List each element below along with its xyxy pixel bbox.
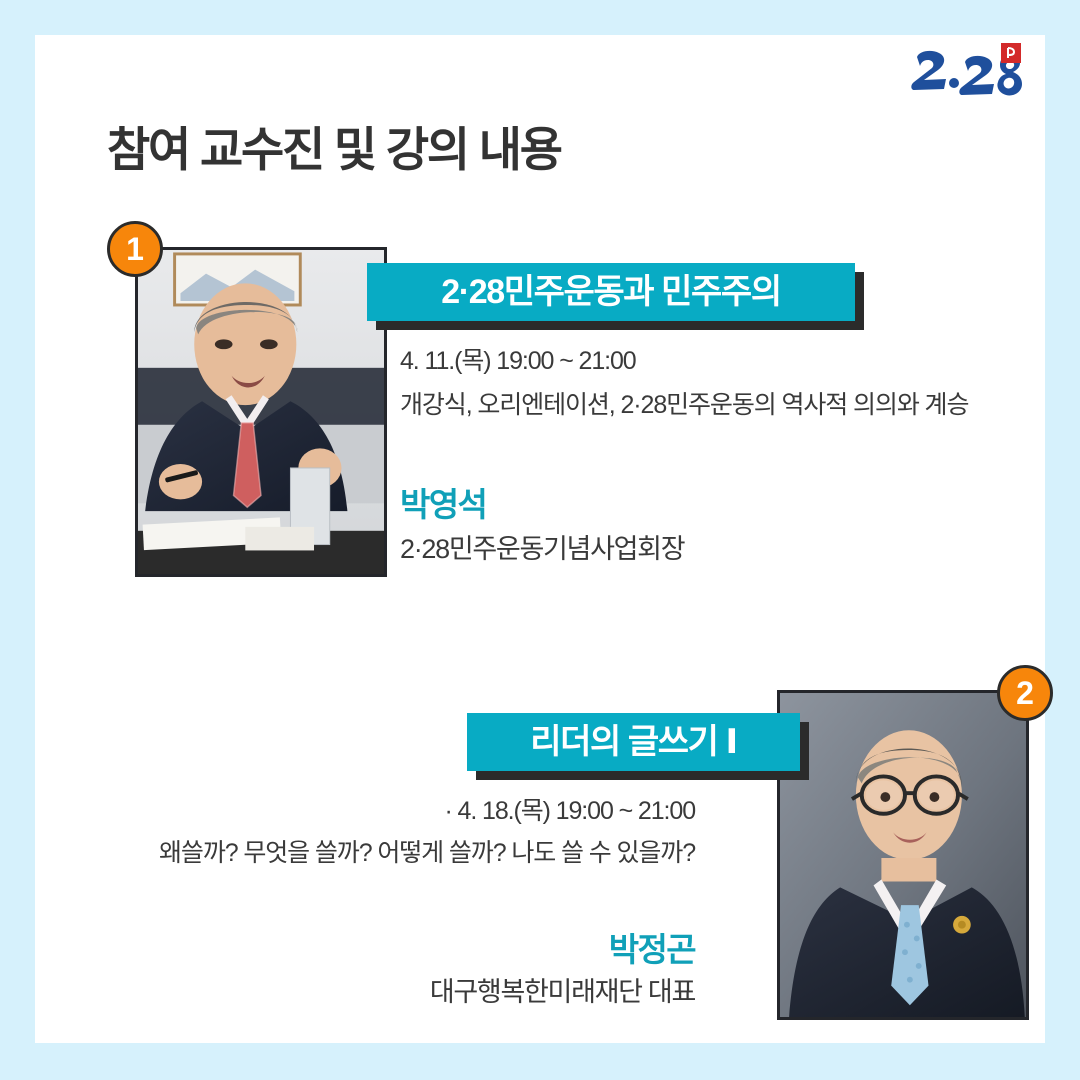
speaker-name-2: 박정곤 <box>609 923 695 971</box>
2-28-logo <box>905 43 1023 105</box>
speaker-photo-2 <box>777 690 1029 1020</box>
speaker-name-1: 박영석 <box>400 478 486 526</box>
page-title: 참여 교수진 및 강의 내용 <box>107 111 561 180</box>
speaker-role-1: 2·28민주운동기념사업회장 <box>400 527 684 566</box>
speaker-role-2: 대구행복한미래재단 대표 <box>430 970 695 1009</box>
session-badge-2: 2 <box>997 665 1053 721</box>
session-banner-1: 2·28민주운동과 민주주의 <box>367 263 855 321</box>
speaker-photo-1 <box>135 247 387 577</box>
session-description-1: 개강식, 오리엔테이션, 2·28민주운동의 역사적 의의와 계승 <box>400 385 968 421</box>
session-datetime-2: · 4. 18.(목) 19:00 ~ 21:00 <box>444 791 695 827</box>
session-banner-2: 리더의 글쓰기 Ⅰ <box>467 713 800 771</box>
session-badge-1: 1 <box>107 221 163 277</box>
session-description-2: 왜쓸까? 무엇을 쓸까? 어떻게 쓸까? 나도 쓸 수 있을까? <box>159 833 695 869</box>
session-datetime-1: 4. 11.(목) 19:00 ~ 21:00 <box>400 341 636 377</box>
poster-card: 참여 교수진 및 강의 내용 <box>35 35 1045 1043</box>
